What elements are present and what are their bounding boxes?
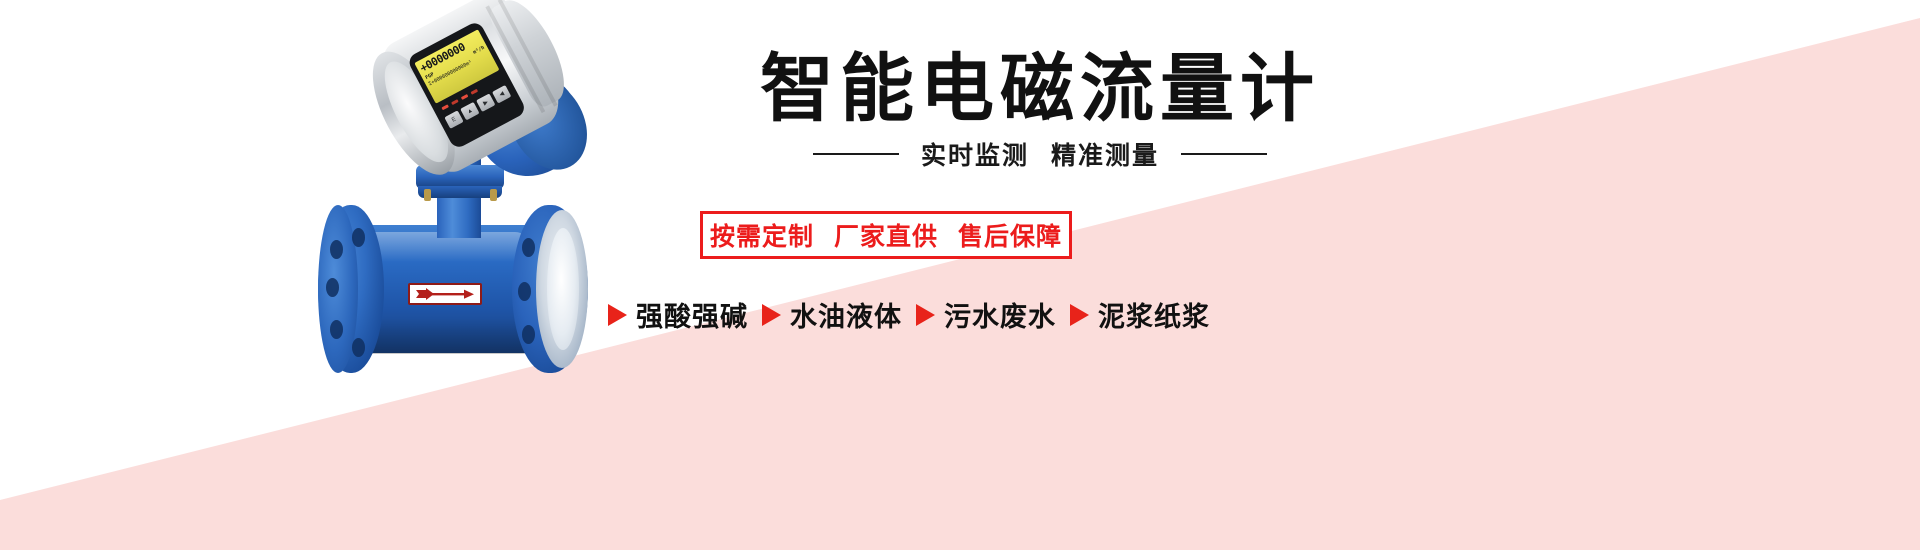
flange-bolt-hole [522, 325, 535, 344]
feature-list: 强酸强碱 水油液体 污水废水 泥浆纸浆 [608, 295, 1488, 334]
status-led [451, 99, 459, 105]
subtitle-rule-left [813, 153, 899, 155]
feature-label: 水油液体 [790, 295, 902, 334]
promo-badge: 按需定制厂家直供售后保障 [700, 211, 1072, 259]
feature-item-1: 强酸强碱 [608, 295, 748, 334]
promo-text: 按需定制厂家直供售后保障 [710, 217, 1062, 253]
feature-item-4: 泥浆纸浆 [1070, 295, 1210, 334]
right-triangle-arrow-icon [608, 304, 627, 326]
flow-direction-label [408, 283, 482, 305]
status-led [441, 104, 449, 110]
right-triangle-arrow-icon [1070, 304, 1089, 326]
neck-bolt [490, 189, 497, 201]
flange-bolt-hole [330, 240, 343, 259]
subtitle-rule-right [1181, 153, 1267, 155]
feature-item-2: 水油液体 [762, 295, 902, 334]
flange-bolt-hole [518, 282, 531, 301]
feature-label: 泥浆纸浆 [1098, 295, 1210, 334]
banner-copy: 智能电磁流量计 实时监测精准测量 按需定制厂家直供售后保障 强酸强碱 水油液体 [600, 0, 1880, 550]
right-triangle-arrow-icon [762, 304, 781, 326]
banner-title: 智能电磁流量计 [600, 47, 1480, 131]
flange-bolt-hole [330, 320, 343, 339]
promo-item-1: 按需定制 [710, 223, 814, 251]
promo-item-3: 售后保障 [958, 223, 1062, 251]
keypad-button-right[interactable]: ▶ [476, 93, 495, 112]
neck-bolt [424, 189, 431, 201]
keypad-button-up[interactable]: ▲ [460, 102, 479, 121]
flange-bolt-hole [352, 338, 365, 357]
flow-direction-arrow-icon [414, 287, 476, 301]
feature-item-3: 污水废水 [916, 295, 1056, 334]
right-flange-liner [547, 228, 579, 350]
banner-subtitle: 实时监测精准测量 [921, 136, 1159, 172]
right-triangle-arrow-icon [916, 304, 935, 326]
keypad-button-e[interactable]: E [444, 110, 463, 129]
feature-label: 强酸强碱 [636, 295, 748, 334]
subtitle-text-right: 精准测量 [1051, 142, 1159, 170]
keypad-button-left[interactable]: ◀ [492, 85, 511, 104]
banner-subtitle-row: 实时监测精准测量 [600, 136, 1480, 172]
flange-bolt-hole [326, 278, 339, 297]
status-led [461, 94, 469, 100]
promo-item-2: 厂家直供 [834, 223, 938, 251]
feature-label: 污水废水 [944, 295, 1056, 334]
status-led [471, 89, 479, 95]
flange-bolt-hole [522, 238, 535, 257]
flange-bolt-hole [352, 228, 365, 247]
subtitle-text-left: 实时监测 [921, 142, 1029, 170]
product-banner: EMFM +0000000 FGP m³/h Σ+000000000000m³ [0, 0, 1920, 550]
